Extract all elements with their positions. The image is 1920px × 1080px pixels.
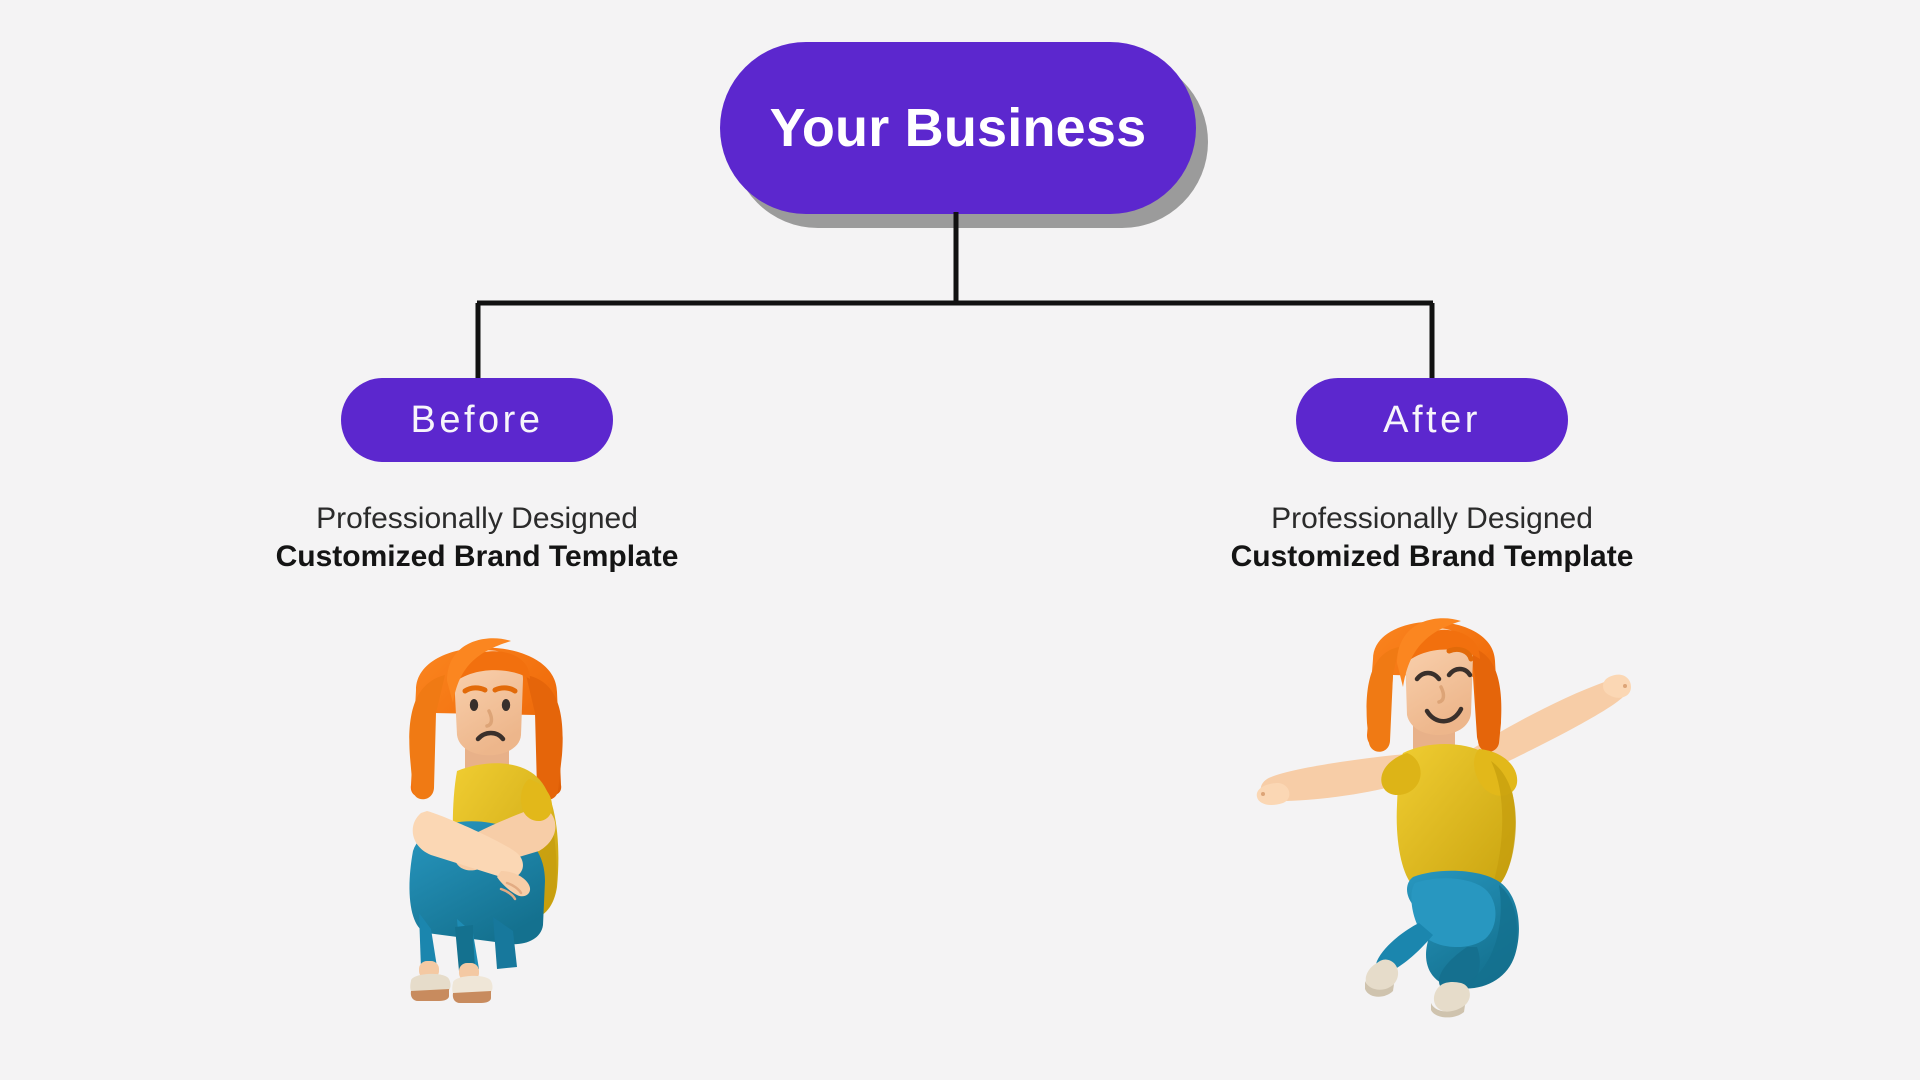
branch-after: After Professionally Designed Customized… xyxy=(1122,378,1742,1025)
happy-girl-jumping-icon xyxy=(1227,595,1677,1025)
root-node-face: Your Business xyxy=(720,42,1196,214)
root-node-label: Your Business xyxy=(770,101,1147,155)
branch-pill-before[interactable]: Before xyxy=(341,378,613,462)
caption-line1-after: Professionally Designed xyxy=(1122,500,1742,538)
branch-pill-label-after: After xyxy=(1383,401,1481,439)
caption-line1-before: Professionally Designed xyxy=(167,500,787,538)
branch-caption-before: Professionally Designed Customized Brand… xyxy=(167,500,787,577)
branch-pill-after[interactable]: After xyxy=(1296,378,1568,462)
caption-line2-after: Customized Brand Template xyxy=(1122,538,1742,576)
illustration-after-wrap xyxy=(1122,595,1742,1025)
caption-line2-before: Customized Brand Template xyxy=(167,538,787,576)
branch-caption-after: Professionally Designed Customized Brand… xyxy=(1122,500,1742,577)
branch-before: Before Professionally Designed Customize… xyxy=(167,378,787,1025)
root-node-your-business[interactable]: Your Business xyxy=(720,42,1196,214)
sad-girl-hugging-knees-icon xyxy=(361,595,611,1015)
illustration-before-wrap xyxy=(167,595,787,1025)
diagram-canvas: Your Business Before Professionally Desi… xyxy=(0,0,1920,1080)
branch-pill-label-before: Before xyxy=(411,401,544,439)
